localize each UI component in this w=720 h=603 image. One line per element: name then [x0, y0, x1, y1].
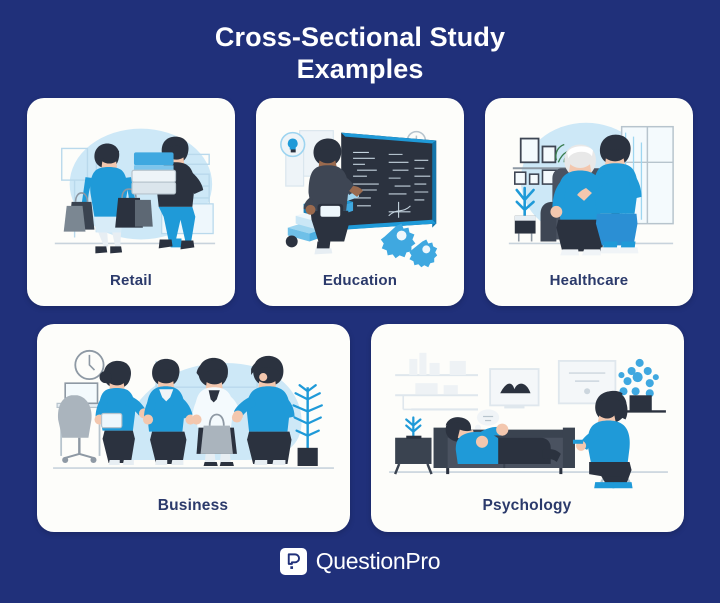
title-line-1: Cross-Sectional Study [0, 22, 720, 54]
example-card-retail[interactable]: Retail [27, 98, 235, 306]
psychology-therapy-icon [381, 336, 674, 497]
healthcare-nurse-patient-icon [495, 110, 683, 272]
brand-footer: QuestionPro [280, 548, 441, 575]
example-card-psychology[interactable]: Psychology [371, 324, 684, 532]
card-label-business: Business [158, 497, 229, 524]
card-label-healthcare: Healthcare [550, 272, 629, 298]
questionpro-p-icon [280, 548, 307, 575]
example-card-grid: Retail [27, 98, 693, 532]
example-card-education[interactable]: Education [256, 98, 464, 306]
card-label-retail: Retail [110, 272, 152, 298]
card-label-psychology: Psychology [483, 497, 572, 524]
education-chalkboard-icon [266, 110, 454, 272]
example-card-business[interactable]: Business [37, 324, 350, 532]
business-team-icon [47, 336, 340, 497]
infographic-poster: Cross-Sectional Study Examples [0, 0, 720, 603]
card-label-education: Education [323, 272, 397, 298]
page-title: Cross-Sectional Study Examples [0, 0, 720, 86]
example-card-healthcare[interactable]: Healthcare [485, 98, 693, 306]
card-row-bottom: Business [27, 324, 693, 532]
card-row-top: Retail [27, 98, 693, 306]
title-line-2: Examples [0, 54, 720, 86]
brand-name: QuestionPro [316, 548, 441, 575]
retail-shoppers-icon [37, 110, 225, 272]
